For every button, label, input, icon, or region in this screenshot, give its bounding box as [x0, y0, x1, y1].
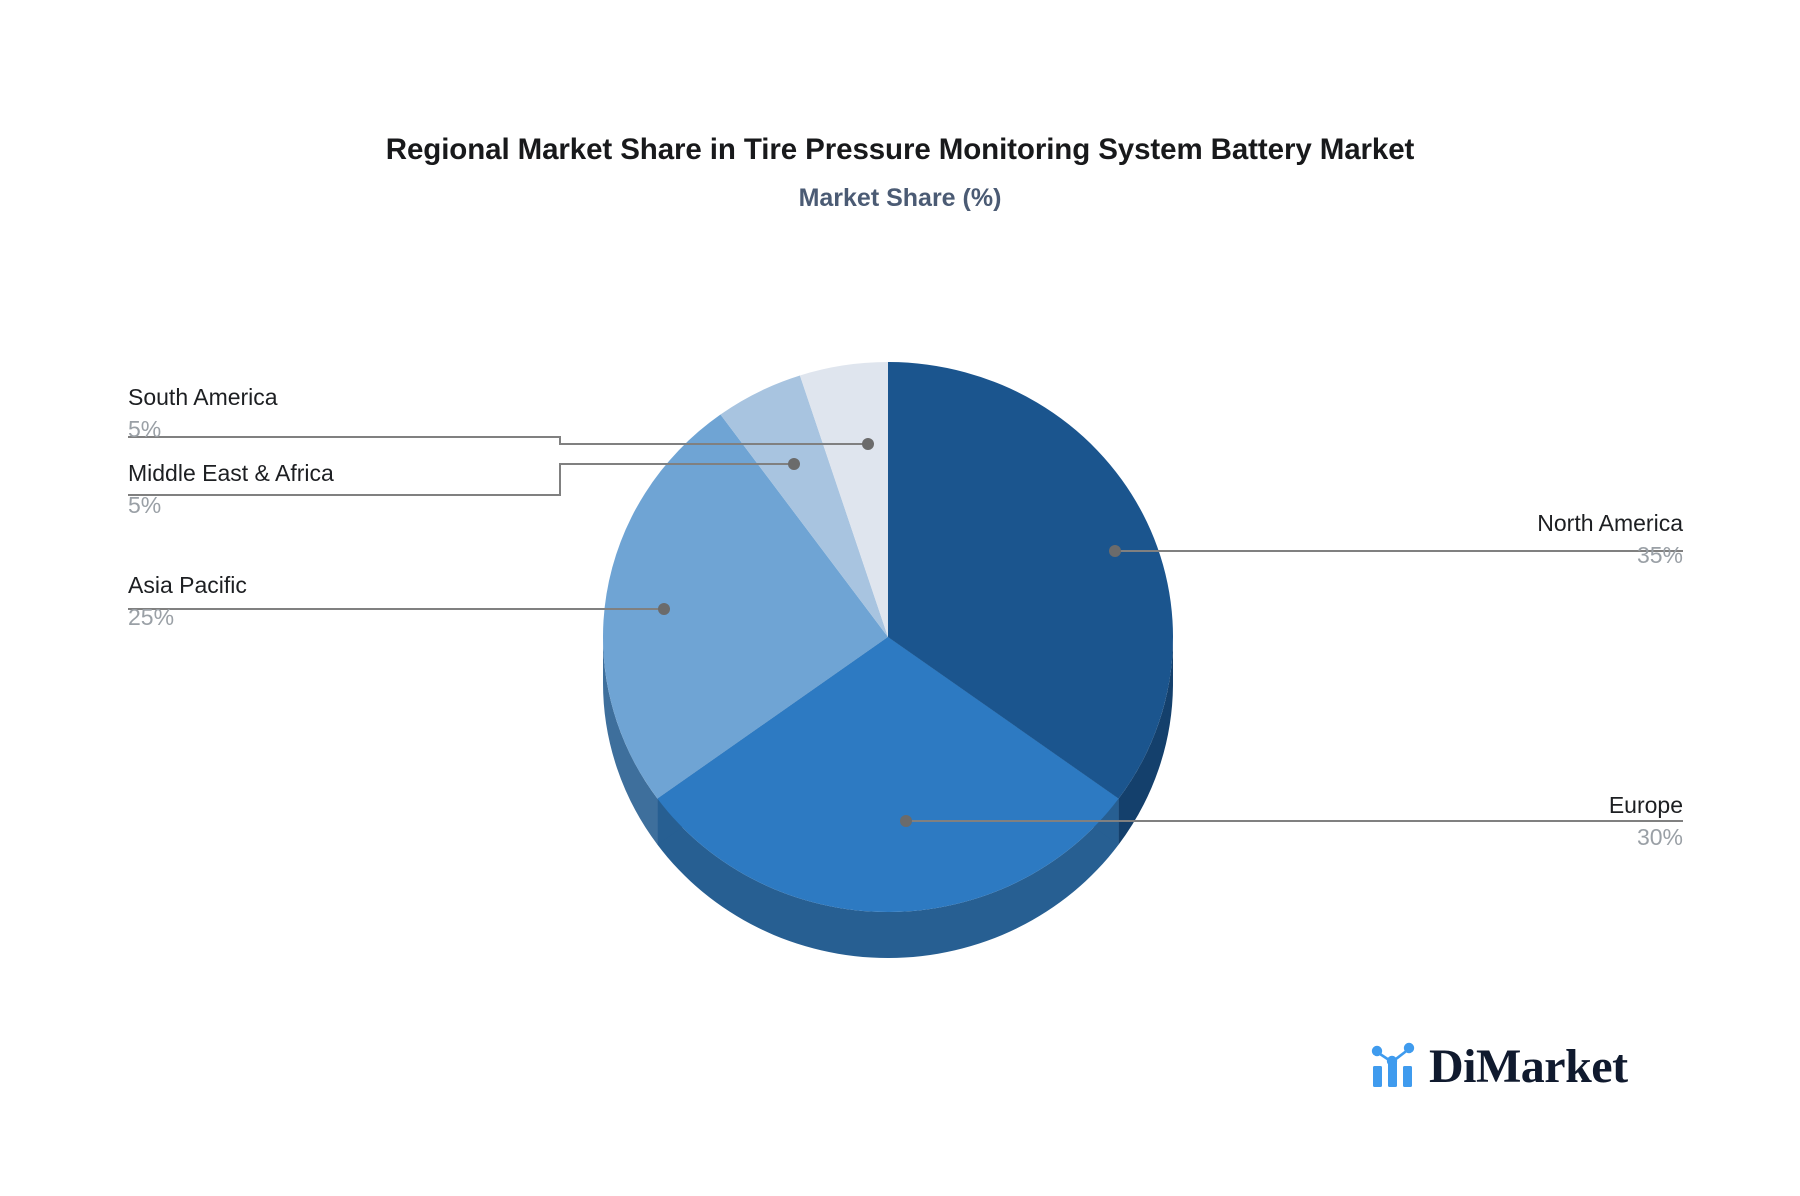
callout-value-south-america: 5%	[128, 412, 548, 446]
callout-middle-east-africa: Middle East & Africa 5%	[128, 458, 548, 522]
leader-dot-middle-east-africa	[788, 458, 800, 470]
callout-north-america: North America 35%	[1240, 508, 1683, 572]
bar-line-chart-icon-svg	[1370, 1040, 1420, 1088]
callout-asia-pacific: Asia Pacific 25%	[128, 570, 548, 634]
callout-south-america: South America 5%	[128, 382, 548, 446]
leader-dot-europe	[900, 815, 912, 827]
brand-logo: DiMarket	[1370, 1040, 1628, 1093]
callout-label-europe: Europe	[1240, 790, 1683, 820]
callout-value-europe: 30%	[1240, 820, 1683, 854]
chart-canvas: Regional Market Share in Tire Pressure M…	[0, 0, 1800, 1196]
callout-label-north-america: North America	[1240, 508, 1683, 538]
leader-dot-asia-pacific	[658, 603, 670, 615]
callout-value-asia-pacific: 25%	[128, 600, 548, 634]
callout-europe: Europe 30%	[1240, 790, 1683, 854]
leader-dot-south-america	[862, 438, 874, 450]
bar-line-chart-icon	[1370, 1040, 1420, 1093]
leader-dot-north-america	[1109, 545, 1121, 557]
callout-label-asia-pacific: Asia Pacific	[128, 570, 548, 600]
callout-label-south-america: South America	[128, 382, 548, 412]
brand-name: DiMarket	[1429, 1043, 1628, 1091]
callout-label-middle-east-africa: Middle East & Africa	[128, 458, 548, 488]
callout-value-middle-east-africa: 5%	[128, 488, 548, 522]
callout-value-north-america: 35%	[1240, 538, 1683, 572]
